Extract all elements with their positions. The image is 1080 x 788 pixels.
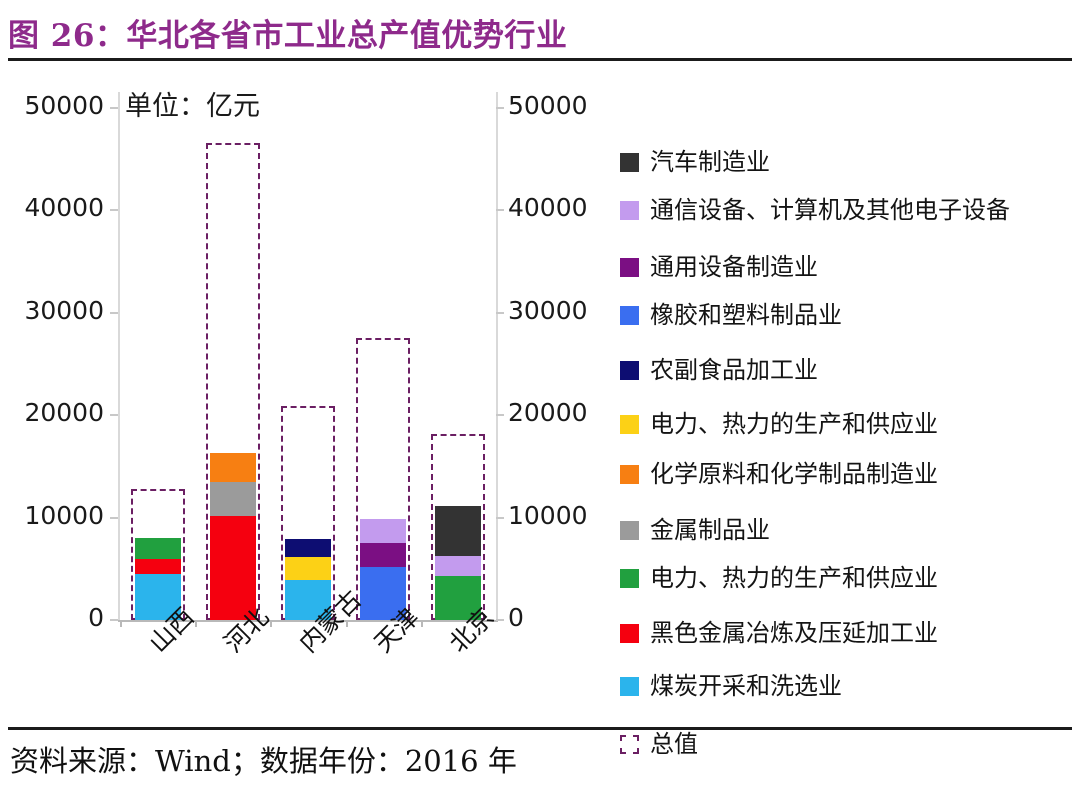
bar-segment[interactable] [360,519,406,543]
legend-swatch-icon [620,201,639,220]
legend-item[interactable]: 农副食品加工业 [620,358,818,382]
legend-item[interactable]: 化学原料和化学制品制造业 [620,462,938,486]
legend-item-label: 橡胶和塑料制品业 [650,303,842,327]
legend-item[interactable]: 通用设备制造业 [620,255,818,279]
bar-segment[interactable] [360,543,406,567]
legend-item-label: 通用设备制造业 [650,255,818,279]
legend-swatch-icon [620,153,639,172]
bar-segment[interactable] [210,453,256,482]
legend-item-label: 通信设备、计算机及其他电子设备 [650,198,1010,222]
legend-item[interactable]: 橡胶和塑料制品业 [620,303,842,327]
legend-item[interactable]: 黑色金属冶炼及压延加工业 [620,621,938,645]
chart-container: 单位：亿元 50000400003000020000100000 5000040… [0,62,1080,720]
bar-segment[interactable] [135,538,181,558]
footer-divider [8,727,1072,730]
bar-segment[interactable] [210,482,256,516]
legend-swatch-icon [620,258,639,277]
title-divider [8,58,1072,61]
x-axis-tick-mark [421,620,423,627]
bar-segment[interactable] [435,506,481,556]
legend-swatch-icon [620,569,639,588]
x-axis-tick-mark [270,620,272,627]
legend-swatch-icon [620,465,639,484]
legend-item[interactable]: 金属制品业 [620,518,770,542]
source-note: 资料来源：Wind；数据年份：2016 年 [10,738,517,780]
legend-swatch-icon [620,361,639,380]
x-axis-tick-mark [195,620,197,627]
legend-swatch-icon [620,677,639,696]
legend-item[interactable]: 电力、热力的生产和供应业 [620,566,938,590]
legend-item-label: 总值 [650,732,698,756]
bar-stack[interactable] [210,453,256,620]
bar-segment[interactable] [285,539,331,557]
legend-item-label: 电力、热力的生产和供应业 [650,566,938,590]
legend-swatch-icon [620,521,639,540]
legend-item[interactable]: 汽车制造业 [620,150,770,174]
legend-item-label: 农副食品加工业 [650,358,818,382]
legend-item-label: 金属制品业 [650,518,770,542]
legend-item-label: 汽车制造业 [650,150,770,174]
x-axis-tick-mark [120,620,122,627]
page-title: 图 26：华北各省市工业总产值优势行业 [8,4,1072,60]
legend-swatch-icon [620,306,639,325]
legend-item[interactable]: 煤炭开采和洗选业 [620,674,842,698]
legend-swatch-icon [620,735,639,754]
legend-item[interactable]: 总值 [620,732,698,756]
legend-swatch-icon [620,415,639,434]
bar-segment[interactable] [435,556,481,576]
legend-item[interactable]: 电力、热力的生产和供应业 [620,412,938,436]
bar-segment[interactable] [285,557,331,580]
legend-item-label: 电力、热力的生产和供应业 [650,412,938,436]
plot-area [0,62,1080,620]
legend-swatch-icon [620,624,639,643]
bar-segment[interactable] [135,559,181,574]
legend-item[interactable]: 通信设备、计算机及其他电子设备 [620,198,1010,222]
x-axis-tick-mark [346,620,348,627]
legend-item-label: 煤炭开采和洗选业 [650,674,842,698]
legend-item-label: 化学原料和化学制品制造业 [650,462,938,486]
legend-item-label: 黑色金属冶炼及压延加工业 [650,621,938,645]
